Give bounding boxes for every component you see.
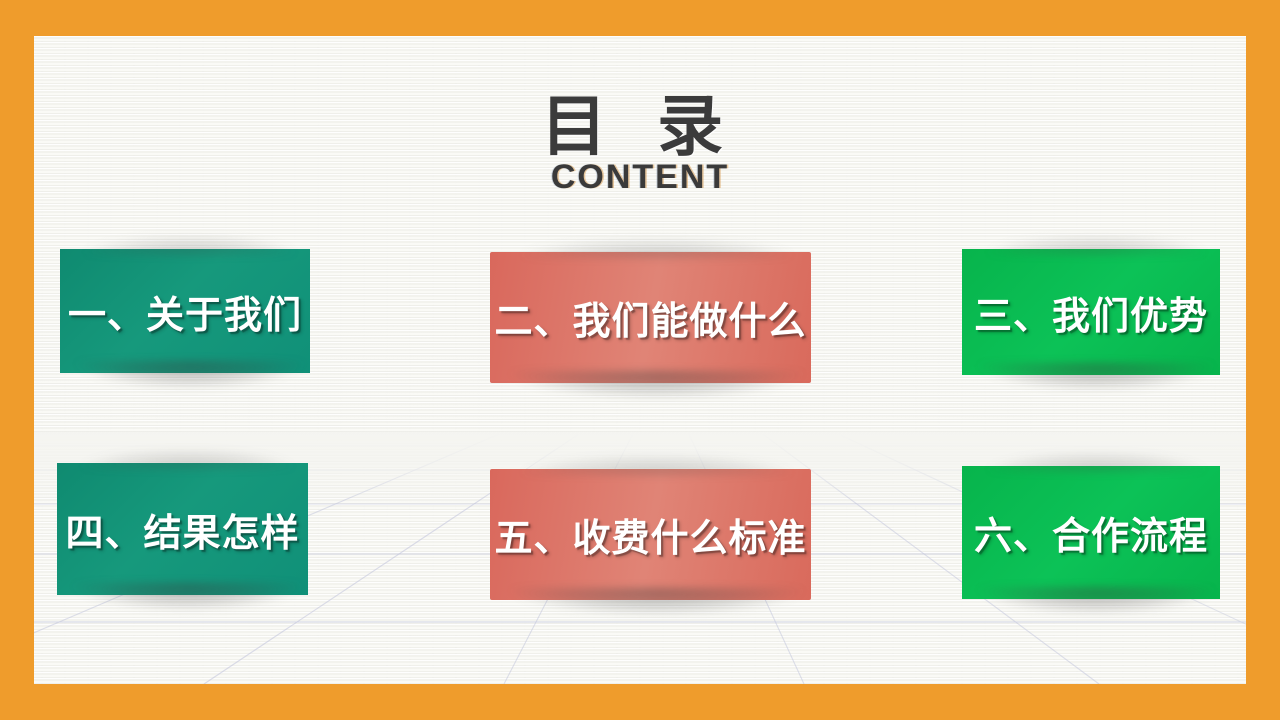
content-item-4[interactable]: 四、结果怎样 — [57, 463, 308, 595]
content-item-4-label: 四、结果怎样 — [57, 502, 308, 557]
content-item-6-label: 六、合作流程 — [962, 505, 1220, 560]
slide-canvas: 目 录 CONTENT 一、关于我们 二、我们能做什么 三、我们优势 四、结果怎… — [34, 36, 1246, 684]
content-item-1-label: 一、关于我们 — [60, 284, 310, 339]
content-item-5[interactable]: 五、收费什么标准 — [490, 469, 811, 600]
page-title: 目 录 — [34, 92, 1246, 161]
page-subtitle: CONTENT — [34, 158, 1246, 197]
presentation-slide: 目 录 CONTENT 一、关于我们 二、我们能做什么 三、我们优势 四、结果怎… — [0, 0, 1280, 720]
content-item-2-label: 二、我们能做什么 — [490, 290, 811, 345]
content-item-5-label: 五、收费什么标准 — [490, 507, 811, 562]
content-item-6[interactable]: 六、合作流程 — [962, 466, 1220, 599]
content-item-2[interactable]: 二、我们能做什么 — [490, 252, 811, 383]
content-item-1[interactable]: 一、关于我们 — [60, 249, 310, 373]
content-item-3[interactable]: 三、我们优势 — [962, 249, 1220, 375]
content-item-3-label: 三、我们优势 — [962, 285, 1220, 340]
